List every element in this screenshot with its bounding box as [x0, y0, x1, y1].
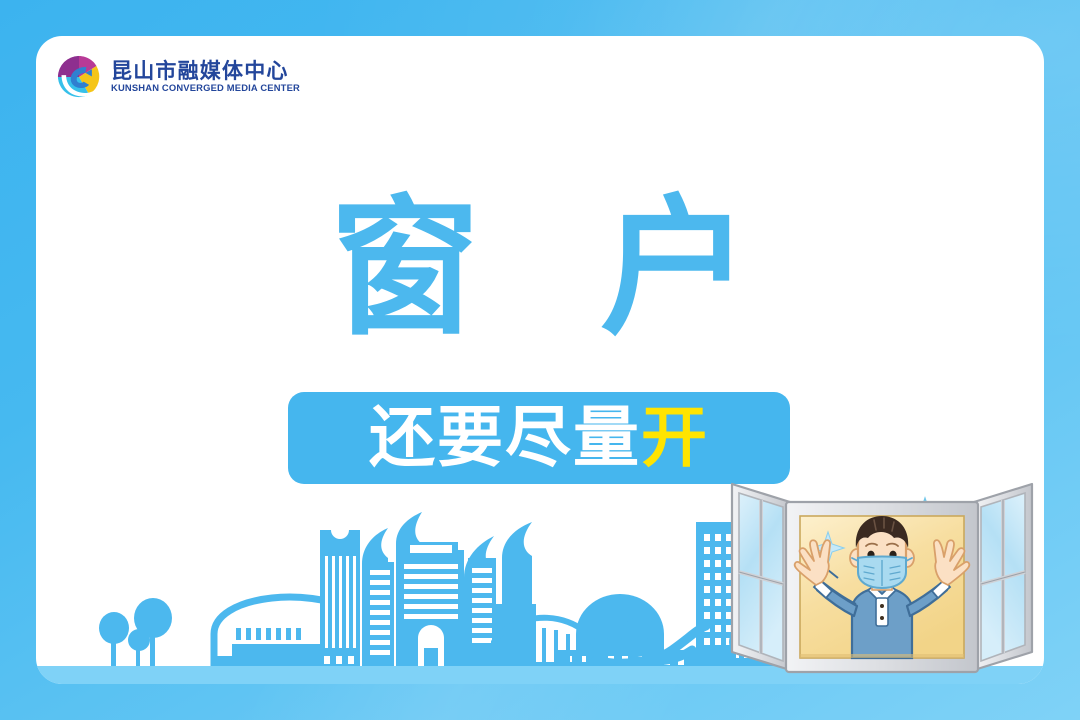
- open-window-illustration: [724, 458, 1040, 684]
- white-content-card: 昆山市融媒体中心 KUNSHAN CONVERGED MEDIA CENTER …: [36, 36, 1044, 684]
- window-sash-right: [974, 484, 1032, 670]
- subtitle-main-text: 还要尽量: [369, 405, 641, 471]
- subtitle-banner: 还要尽量开: [288, 392, 790, 484]
- headline-title: 窗 户: [36, 194, 1044, 344]
- subtitle-banner-text: 还要尽量开: [369, 405, 709, 471]
- window-sash-left: [732, 484, 790, 670]
- brand-logo: 昆山市融媒体中心 KUNSHAN CONVERGED MEDIA CENTER: [56, 54, 296, 100]
- brand-name-chinese: 昆山市融媒体中心: [111, 61, 296, 83]
- brand-logo-text: 昆山市融媒体中心 KUNSHAN CONVERGED MEDIA CENTER: [111, 61, 296, 94]
- poster-root: 昆山市融媒体中心 KUNSHAN CONVERGED MEDIA CENTER …: [0, 0, 1080, 720]
- media-center-logo-icon: [56, 54, 102, 100]
- brand-name-english: KUNSHAN CONVERGED MEDIA CENTER: [111, 84, 300, 94]
- subtitle-accent-text: 开: [641, 405, 709, 471]
